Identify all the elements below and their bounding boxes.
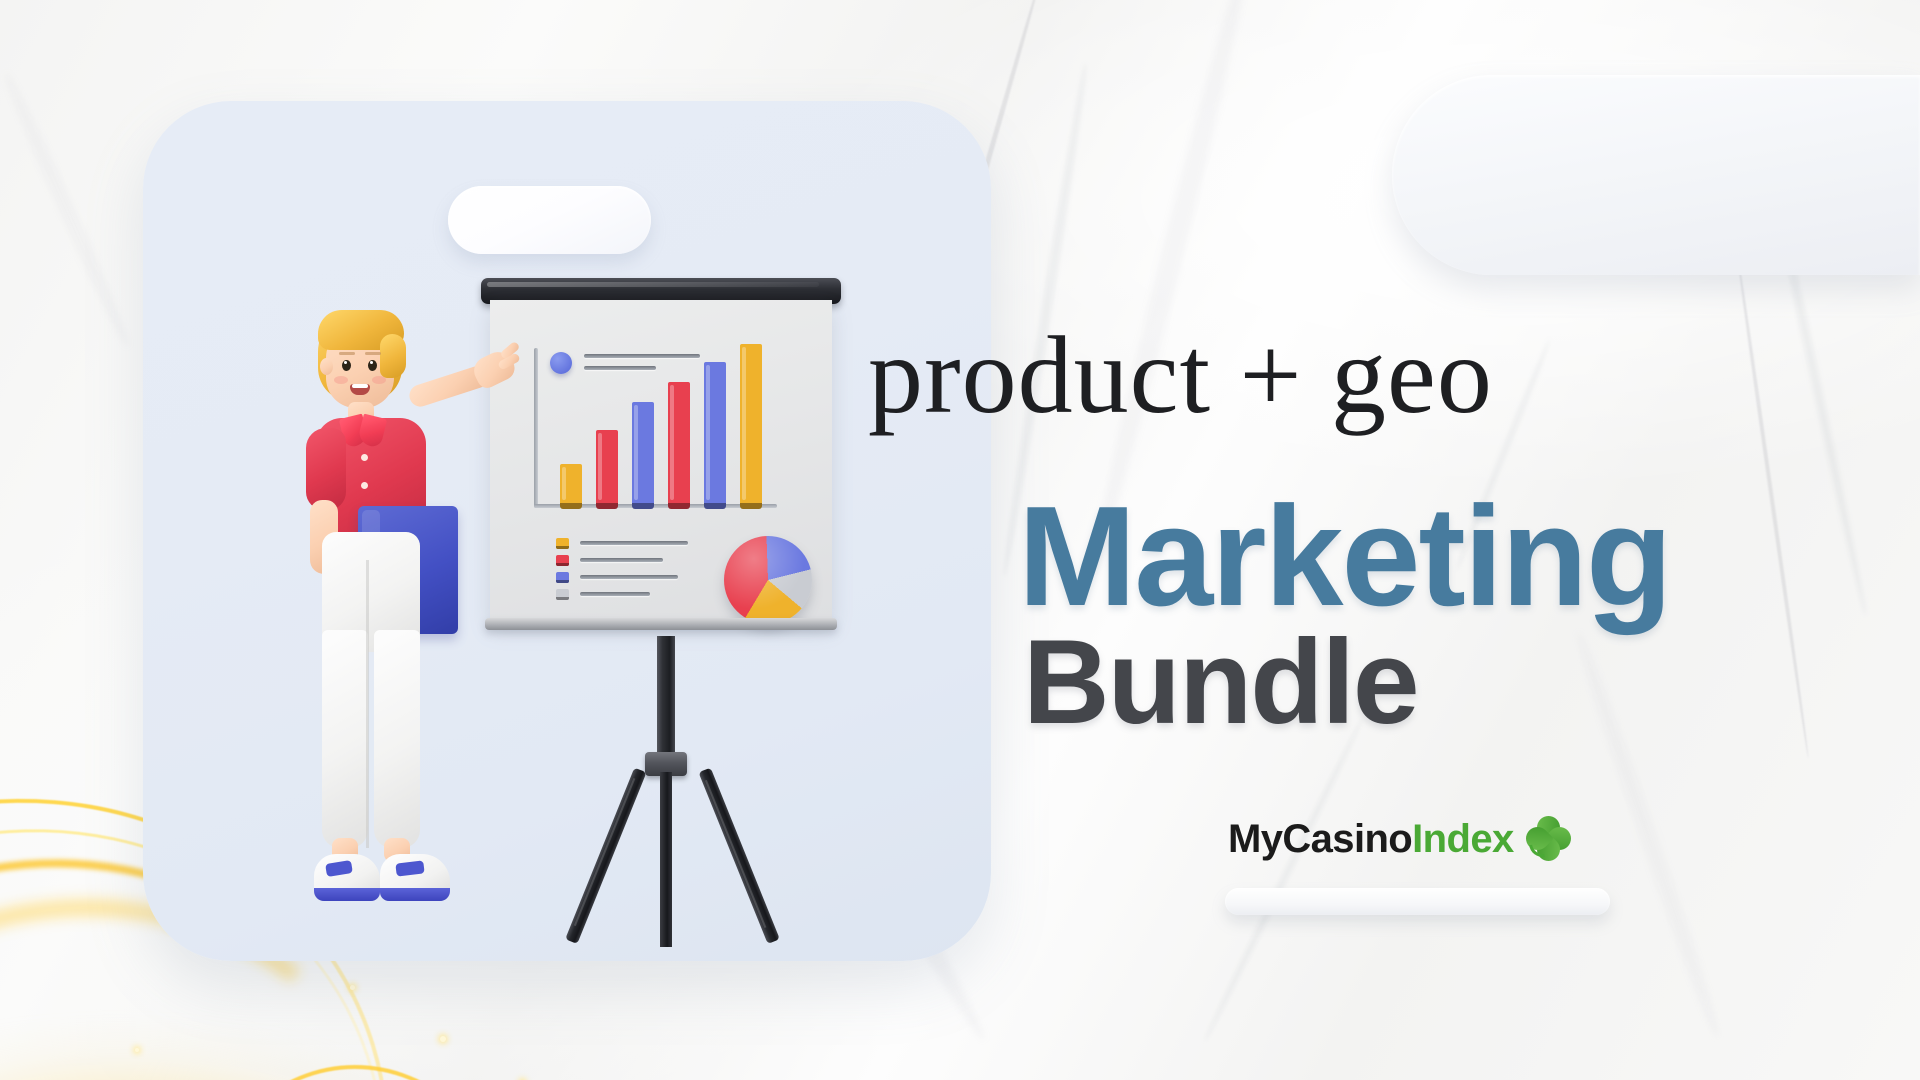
legend-swatch: [556, 589, 569, 600]
character-leg-right: [374, 630, 420, 848]
bar: [740, 344, 762, 504]
banner-headline-secondary: Bundle: [1023, 622, 1418, 742]
banner-stage: product + geo Marketing Bundle MyCasinoI…: [0, 0, 1920, 1080]
legend-swatch: [556, 572, 569, 583]
bar: [668, 382, 690, 504]
banner-headline-primary: Marketing: [1018, 486, 1671, 628]
brand-logo[interactable]: MyCasinoIndex: [1228, 816, 1572, 862]
bar: [632, 402, 654, 504]
card-top-pill: [448, 186, 651, 254]
bar: [704, 362, 726, 504]
clover-icon: [1526, 816, 1572, 862]
character-leg-left: [322, 630, 368, 848]
bar-chart-y-axis: [534, 348, 538, 508]
bar: [560, 464, 582, 504]
flipchart-bottom-rail: [485, 618, 837, 630]
account-widget[interactable]: $: [1392, 75, 1920, 275]
banner-kicker: product + geo: [868, 320, 1493, 430]
legend-swatch: [556, 538, 569, 549]
bar: [596, 430, 618, 504]
pie-chart: [724, 536, 812, 624]
logo-underbar: [1225, 888, 1610, 915]
flipchart-board: [490, 300, 832, 620]
flipchart: [487, 278, 835, 638]
presenter-character: [292, 310, 532, 960]
brand-logo-text: MyCasinoIndex: [1228, 817, 1514, 862]
legend-swatch: [556, 555, 569, 566]
brand-logo-text-primary: MyCasino: [1228, 817, 1412, 861]
bar-chart-plot: [548, 344, 776, 504]
brand-logo-text-accent: Index: [1412, 817, 1513, 861]
